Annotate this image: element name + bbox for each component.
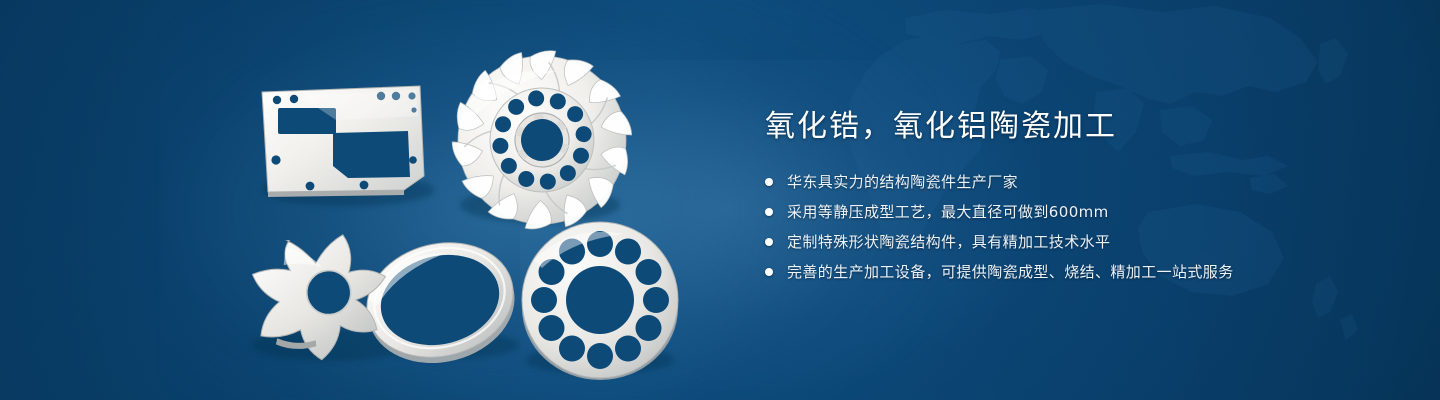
bullet-dot-icon bbox=[765, 268, 773, 276]
banner-feature-list: 华东具实力的结构陶瓷件生产厂家 采用等静压成型工艺，最大直径可做到600mm 定… bbox=[765, 172, 1405, 283]
promo-banner: 氧化锆，氧化铝陶瓷加工 华东具实力的结构陶瓷件生产厂家 采用等静压成型工艺，最大… bbox=[0, 0, 1440, 400]
feature-text: 定制特殊形状陶瓷结构件，具有精加工技术水平 bbox=[787, 232, 1110, 252]
bullet-dot-icon bbox=[765, 178, 773, 186]
feature-item: 华东具实力的结构陶瓷件生产厂家 bbox=[765, 172, 1405, 192]
banner-copy-block: 氧化锆，氧化铝陶瓷加工 华东具实力的结构陶瓷件生产厂家 采用等静压成型工艺，最大… bbox=[765, 108, 1405, 283]
bullet-dot-icon bbox=[765, 208, 773, 216]
feature-item: 定制特殊形状陶瓷结构件，具有精加工技术水平 bbox=[765, 232, 1405, 252]
bullet-dot-icon bbox=[765, 238, 773, 246]
feature-item: 完善的生产加工设备，可提供陶瓷成型、烧结、精加工一站式服务 bbox=[765, 262, 1405, 282]
feature-item: 采用等静压成型工艺，最大直径可做到600mm bbox=[765, 202, 1405, 222]
feature-text: 完善的生产加工设备，可提供陶瓷成型、烧结、精加工一站式服务 bbox=[787, 262, 1234, 282]
banner-headline: 氧化锆，氧化铝陶瓷加工 bbox=[765, 108, 1405, 146]
feature-text: 采用等静压成型工艺，最大直径可做到600mm bbox=[787, 202, 1109, 222]
feature-text: 华东具实力的结构陶瓷件生产厂家 bbox=[787, 172, 1018, 192]
